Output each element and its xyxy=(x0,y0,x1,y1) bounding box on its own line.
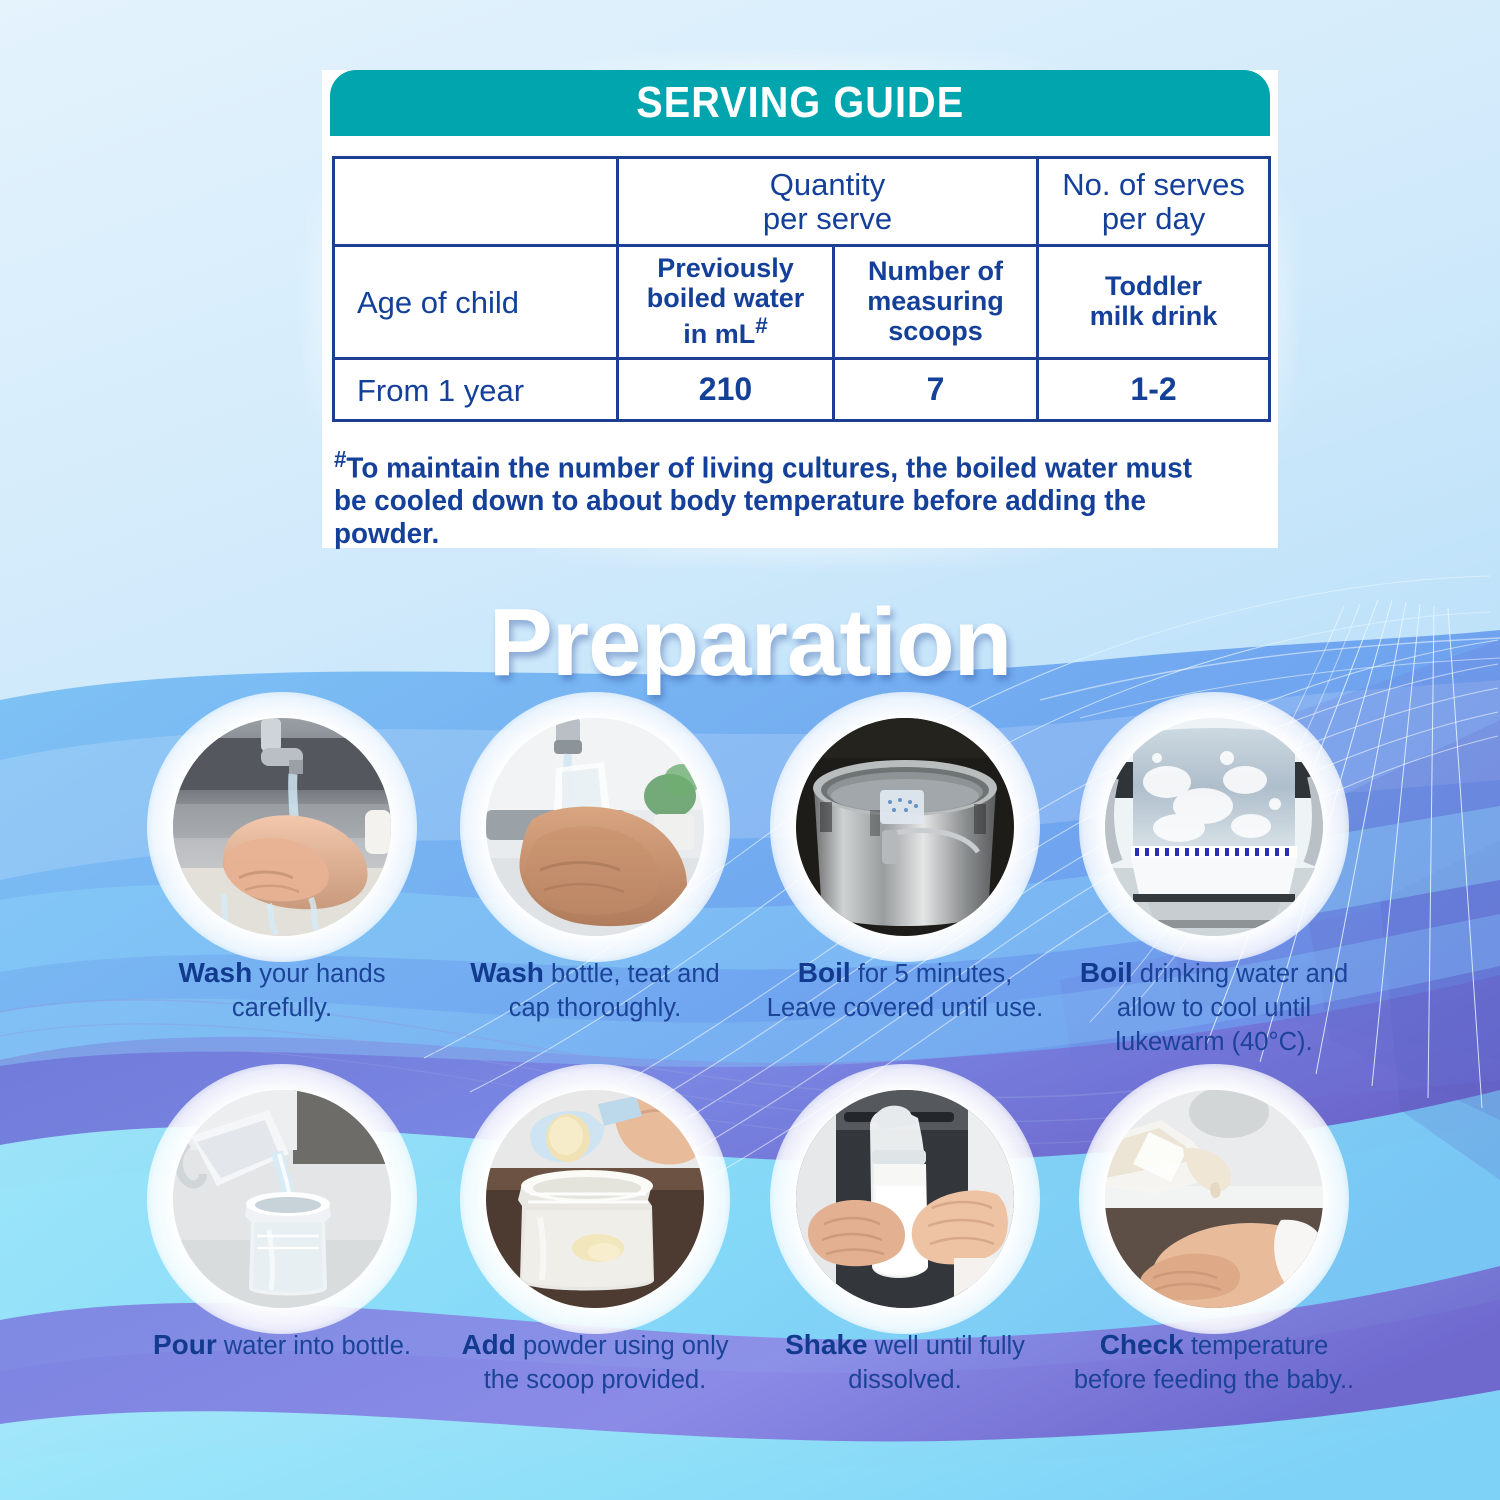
step-photo-wrapper xyxy=(1105,718,1323,936)
electric-kettle-boiling-photo xyxy=(1105,718,1323,936)
step-rest: powder using only the scoop provided. xyxy=(484,1332,729,1394)
step-photo-wrapper xyxy=(796,1090,1014,1308)
step-wash-hands: Wash your hands carefully. xyxy=(127,718,437,1026)
footnote-text: To maintain the number of living culture… xyxy=(334,453,1192,551)
serving-guide-panel: SERVING GUIDE Quantity per serve No. of … xyxy=(322,70,1278,548)
step-caption: Wash your hands carefully. xyxy=(127,954,437,1026)
steel-pot-boiling-photo xyxy=(796,718,1014,936)
step-photo-wrapper xyxy=(173,718,391,936)
step-lead: Boil xyxy=(1080,957,1133,988)
step-photo-wrapper xyxy=(1105,1090,1323,1308)
step-rest: well until fully dissolved. xyxy=(848,1332,1025,1394)
scoop-adding-powder-photo xyxy=(486,1090,704,1308)
step-lead: Wash xyxy=(179,957,253,988)
step-add-powder: Add powder using only the scoop provided… xyxy=(440,1090,750,1398)
cell-serves-per-day: 1-2 xyxy=(1038,359,1270,421)
serving-guide-table: Quantity per serve No. of serves per day… xyxy=(332,156,1271,422)
step-check-temperature: Check temperature before feeding the bab… xyxy=(1059,1090,1369,1398)
step-lead: Pour xyxy=(153,1329,217,1360)
column-header-scoops: Number of measuring scoops xyxy=(834,246,1038,359)
column-header-boiled-water: Previously boiled water in mL# xyxy=(618,246,834,359)
serving-guide-header: SERVING GUIDE xyxy=(330,70,1270,136)
step-shake-bottle: Shake well until fully dissolved. xyxy=(750,1090,1060,1398)
footnote-marker: # xyxy=(334,446,346,472)
step-rest: drinking water and allow to cool until l… xyxy=(1115,960,1348,1056)
step-wash-bottle: Wash bottle, teat and cap thoroughly. xyxy=(440,718,750,1026)
table-column-header-row: Age of child Previously boiled water in … xyxy=(334,246,1270,359)
step-caption: Shake well until fully dissolved. xyxy=(750,1326,1060,1398)
hands-washing-under-tap-photo xyxy=(173,718,391,936)
column-header-toddler-milk-drink: Toddler milk drink xyxy=(1038,246,1270,359)
column-header-age: Age of child xyxy=(334,246,618,359)
cell-age: From 1 year xyxy=(334,359,618,421)
step-lead: Boil xyxy=(798,957,851,988)
step-caption: Boil for 5 minutes, Leave covered until … xyxy=(750,954,1060,1026)
step-pour-water: Pour water into bottle. xyxy=(127,1090,437,1364)
step-caption: Wash bottle, teat and cap thoroughly. xyxy=(440,954,750,1026)
shaking-milk-bottle-photo xyxy=(796,1090,1014,1308)
group-header-serves: No. of serves per day xyxy=(1038,158,1270,246)
group-header-quantity: Quantity per serve xyxy=(618,158,1038,246)
step-photo-wrapper xyxy=(796,718,1014,936)
serving-guide-card: SERVING GUIDE Quantity per serve No. of … xyxy=(322,70,1278,548)
step-photo-wrapper xyxy=(173,1090,391,1308)
step-photo-wrapper xyxy=(486,1090,704,1308)
pouring-water-into-bottle-photo xyxy=(173,1090,391,1308)
preparation-heading: Preparation xyxy=(0,588,1500,698)
checking-milk-temperature-on-wrist-photo xyxy=(1105,1090,1323,1308)
step-caption: Check temperature before feeding the bab… xyxy=(1059,1326,1369,1398)
serving-guide-footnote: #To maintain the number of living cultur… xyxy=(334,446,1229,551)
step-boil-drinking-water: Boil drinking water and allow to cool un… xyxy=(1059,718,1369,1060)
step-rest: water into bottle. xyxy=(217,1332,411,1360)
footnote-marker-ref: # xyxy=(755,313,768,338)
step-lead: Wash xyxy=(470,957,544,988)
cell-water-ml: 210 xyxy=(618,359,834,421)
group-header-blank xyxy=(334,158,618,246)
table-group-header-row: Quantity per serve No. of serves per day xyxy=(334,158,1270,246)
step-lead: Check xyxy=(1100,1329,1184,1360)
step-rest: your hands carefully. xyxy=(232,960,386,1022)
step-photo-wrapper xyxy=(486,718,704,936)
serving-guide-title: SERVING GUIDE xyxy=(636,78,964,128)
table-row: From 1 year 210 7 1-2 xyxy=(334,359,1270,421)
step-caption: Add powder using only the scoop provided… xyxy=(440,1326,750,1398)
cell-scoops: 7 xyxy=(834,359,1038,421)
step-lead: Shake xyxy=(785,1329,868,1360)
bottle-washing-under-tap-photo xyxy=(486,718,704,936)
step-boil-pot: Boil for 5 minutes, Leave covered until … xyxy=(750,718,1060,1026)
step-caption: Boil drinking water and allow to cool un… xyxy=(1059,954,1369,1060)
step-lead: Add xyxy=(461,1329,515,1360)
